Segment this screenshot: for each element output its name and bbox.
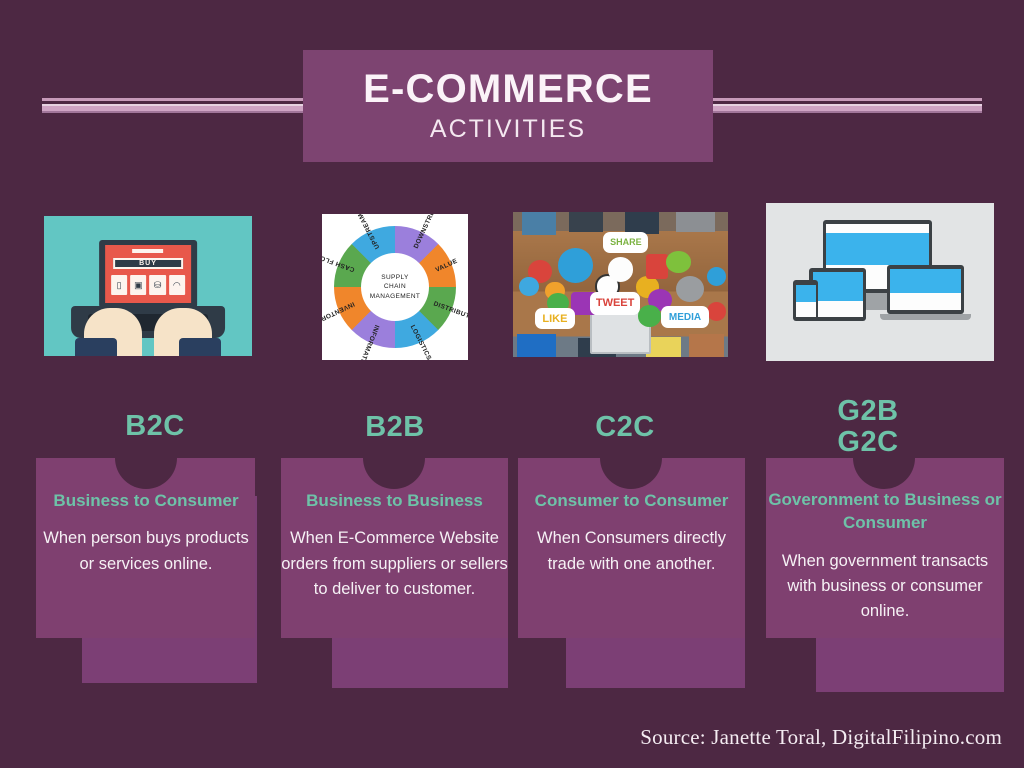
bubble-share: SHARE bbox=[603, 232, 648, 252]
card-b2c: Business to Consumer When person buys pr… bbox=[36, 458, 296, 683]
gift-icon: ⛁ bbox=[149, 275, 165, 295]
person-bottom-1 bbox=[517, 334, 556, 357]
leaf-icon bbox=[666, 251, 692, 273]
refresh-icon bbox=[638, 305, 662, 327]
tablet-hero bbox=[813, 272, 863, 301]
card-b2b-text: Business to Business When E-Commerce Web… bbox=[281, 489, 508, 602]
code-label-g2b-g2c: G2B G2C bbox=[778, 396, 958, 459]
card-c2c-description: When Consumers directly trade with one a… bbox=[518, 526, 745, 576]
cloud-icon bbox=[558, 248, 592, 283]
sleeve-left bbox=[75, 338, 117, 356]
card-b2c-text: Business to Consumer When person buys pr… bbox=[39, 489, 253, 577]
phone-icon bbox=[646, 254, 668, 279]
title-band: E-COMMERCE ACTIVITIES bbox=[303, 50, 713, 162]
card-c2c: Consumer to Consumer When Consumers dire… bbox=[518, 458, 780, 688]
laptop-screen: BUY ▯ ▣ ⛁ ◠ bbox=[105, 245, 191, 303]
person-top-1 bbox=[522, 212, 556, 235]
card-g2b-text: Goveronment to Business or Consumer When… bbox=[766, 488, 1004, 625]
social-media-scene: SHARE TWEET LIKE MEDIA bbox=[513, 212, 728, 357]
phone-hero bbox=[796, 285, 817, 301]
product-icon-strip: ▯ ▣ ⛁ ◠ bbox=[111, 275, 185, 295]
page-subtitle: ACTIVITIES bbox=[430, 115, 586, 144]
card-g2b-description: When government transacts with business … bbox=[766, 549, 1004, 625]
camera-icon: ▣ bbox=[130, 275, 146, 295]
laptop-hero bbox=[890, 269, 961, 293]
person-top-3 bbox=[625, 212, 659, 234]
headphones-icon: ◠ bbox=[169, 275, 185, 295]
code-label-b2c: B2C bbox=[60, 411, 250, 442]
card-g2b-g2c: Goveronment to Business or Consumer When… bbox=[766, 458, 1024, 698]
code-label-c2c: C2C bbox=[535, 412, 715, 443]
laptop bbox=[887, 265, 965, 314]
source-credit: Source: Janette Toral, DigitalFilipino.c… bbox=[640, 725, 1002, 750]
person-bottom-3 bbox=[646, 337, 680, 357]
infographic-canvas: E-COMMERCE ACTIVITIES BUY ▯ ▣ ⛁ bbox=[0, 0, 1024, 768]
card-b2b: Business to Business When E-Commerce Web… bbox=[281, 458, 543, 688]
code-label-g2c: G2C bbox=[778, 427, 958, 458]
smartphone bbox=[793, 280, 818, 321]
laptop-body bbox=[890, 293, 961, 310]
code-label-c2c-line1: C2C bbox=[535, 412, 715, 443]
bubble-tweet: TWEET bbox=[590, 292, 639, 315]
person-bottom-4 bbox=[689, 334, 723, 357]
heart-icon bbox=[519, 277, 538, 296]
card-b2c-title: Business to Consumer bbox=[39, 489, 253, 512]
person-top-2 bbox=[569, 212, 603, 232]
card-b2b-title: Business to Business bbox=[281, 489, 508, 512]
smartphone-icon: ▯ bbox=[111, 275, 127, 295]
code-label-b2b: B2B bbox=[300, 412, 490, 443]
laptop-base bbox=[880, 314, 971, 320]
bubble-like: LIKE bbox=[535, 308, 576, 330]
laptop-lid: BUY ▯ ▣ ⛁ ◠ bbox=[99, 240, 197, 309]
supply-chain-diagram: SUPPLY CHAIN MANAGEMENT DOWNSTREAM VALUE… bbox=[322, 214, 468, 360]
page-title: E-COMMERCE bbox=[363, 68, 653, 110]
responsive-devices-scene bbox=[766, 203, 994, 361]
monitor-browser-bar bbox=[826, 224, 929, 233]
buy-button-graphic: BUY bbox=[113, 258, 184, 270]
buy-label: BUY bbox=[139, 260, 157, 267]
monitor-hero bbox=[826, 233, 929, 265]
code-label-b2c-line1: B2C bbox=[60, 411, 250, 442]
card-c2c-title: Consumer to Consumer bbox=[518, 489, 745, 512]
bubble-media: MEDIA bbox=[661, 306, 708, 328]
code-label-g2b: G2B bbox=[778, 396, 958, 427]
location-icon bbox=[707, 302, 726, 321]
thumbnail-responsive-devices bbox=[766, 203, 994, 361]
tablet-body bbox=[813, 301, 863, 317]
thumbnail-online-shopping: BUY ▯ ▣ ⛁ ◠ bbox=[44, 216, 252, 356]
laptop-scene: BUY ▯ ▣ ⛁ ◠ bbox=[44, 216, 252, 356]
camera-icon bbox=[608, 257, 634, 282]
card-b2b-description: When E-Commerce Website orders from supp… bbox=[281, 526, 508, 602]
screen-top-bar bbox=[133, 249, 164, 253]
thumbnail-supply-chain: SUPPLY CHAIN MANAGEMENT DOWNSTREAM VALUE… bbox=[322, 214, 468, 360]
card-b2c-description: When person buys products or services on… bbox=[39, 526, 253, 576]
code-label-b2b-line1: B2B bbox=[300, 412, 490, 443]
card-g2b-title: Goveronment to Business or Consumer bbox=[766, 488, 1004, 535]
copyright-icon bbox=[707, 267, 726, 286]
card-c2c-text: Consumer to Consumer When Consumers dire… bbox=[518, 489, 745, 577]
phone-body bbox=[796, 302, 817, 317]
thumbnail-social-media: SHARE TWEET LIKE MEDIA bbox=[513, 212, 728, 357]
sleeve-right bbox=[179, 338, 221, 356]
person-top-4 bbox=[676, 212, 715, 232]
supply-chain-ring bbox=[334, 226, 457, 349]
robot-icon bbox=[676, 276, 704, 302]
